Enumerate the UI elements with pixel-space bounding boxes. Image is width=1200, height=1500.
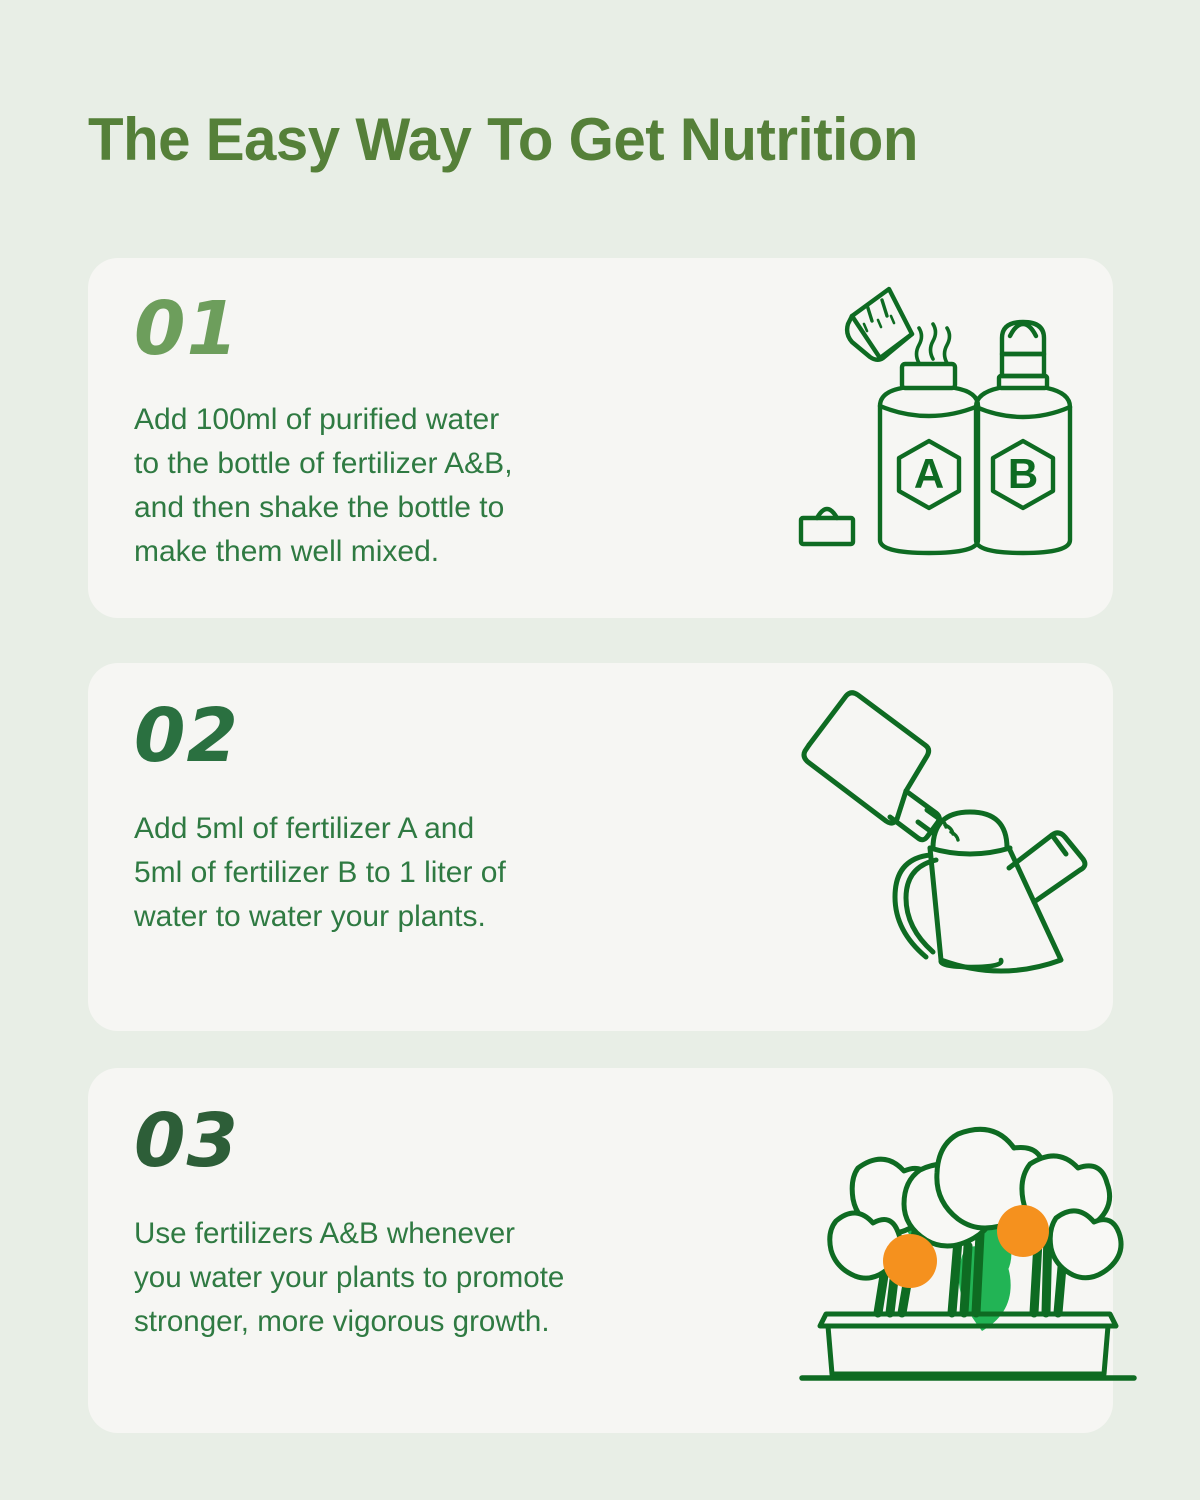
watering-can-icon <box>895 812 1085 971</box>
bottle-cap-icon <box>801 509 853 544</box>
steam-lines-icon <box>917 324 950 363</box>
planter-box-icon <box>802 1314 1134 1378</box>
step-card-2: 02 Add 5ml of fertilizer A and 5ml of fe… <box>88 663 1113 1031</box>
bottle-a-label: A <box>914 450 944 497</box>
bottle-b-label: B <box>1008 450 1038 497</box>
infographic-page: The Easy Way To Get Nutrition 01 Add 100… <box>0 0 1200 1500</box>
watering-can-illustration <box>778 683 1128 983</box>
tilted-bottle-icon <box>804 693 941 840</box>
step-2-number: 02 <box>134 699 506 773</box>
step-1-number: 01 <box>134 292 513 366</box>
bottle-a-icon: A <box>880 364 978 553</box>
step-1-text-block: 01 Add 100ml of purified water to the bo… <box>134 258 513 574</box>
step-3-number: 03 <box>134 1104 571 1178</box>
orange-fruit-left <box>883 1234 937 1288</box>
two-bottles-icon: A B <box>788 272 1118 572</box>
planter-with-plants-icon <box>798 1128 1138 1398</box>
step-card-3: 03 Use fertilizers A&B whenever you wate… <box>88 1068 1113 1433</box>
step-3-text-block: 03 Use fertilizers A&B whenever you wate… <box>134 1068 571 1343</box>
pouring-bottle-into-watering-can-icon <box>778 683 1128 983</box>
step-1-description: Add 100ml of purified water to the bottl… <box>134 398 513 574</box>
measuring-cup-icon <box>847 289 912 360</box>
page-title: The Easy Way To Get Nutrition <box>88 108 1081 171</box>
plants-illustration <box>798 1128 1138 1398</box>
step-card-1: 01 Add 100ml of purified water to the bo… <box>88 258 1113 618</box>
bottle-b-icon: B <box>976 322 1070 553</box>
fertilizer-bottles-illustration: A B <box>788 272 1118 572</box>
step-2-text-block: 02 Add 5ml of fertilizer A and 5ml of fe… <box>134 663 506 939</box>
step-3-description: Use fertilizers A&B whenever you water y… <box>134 1212 564 1343</box>
step-2-description: Add 5ml of fertilizer A and 5ml of ferti… <box>134 807 506 939</box>
orange-fruit-right <box>997 1205 1049 1257</box>
